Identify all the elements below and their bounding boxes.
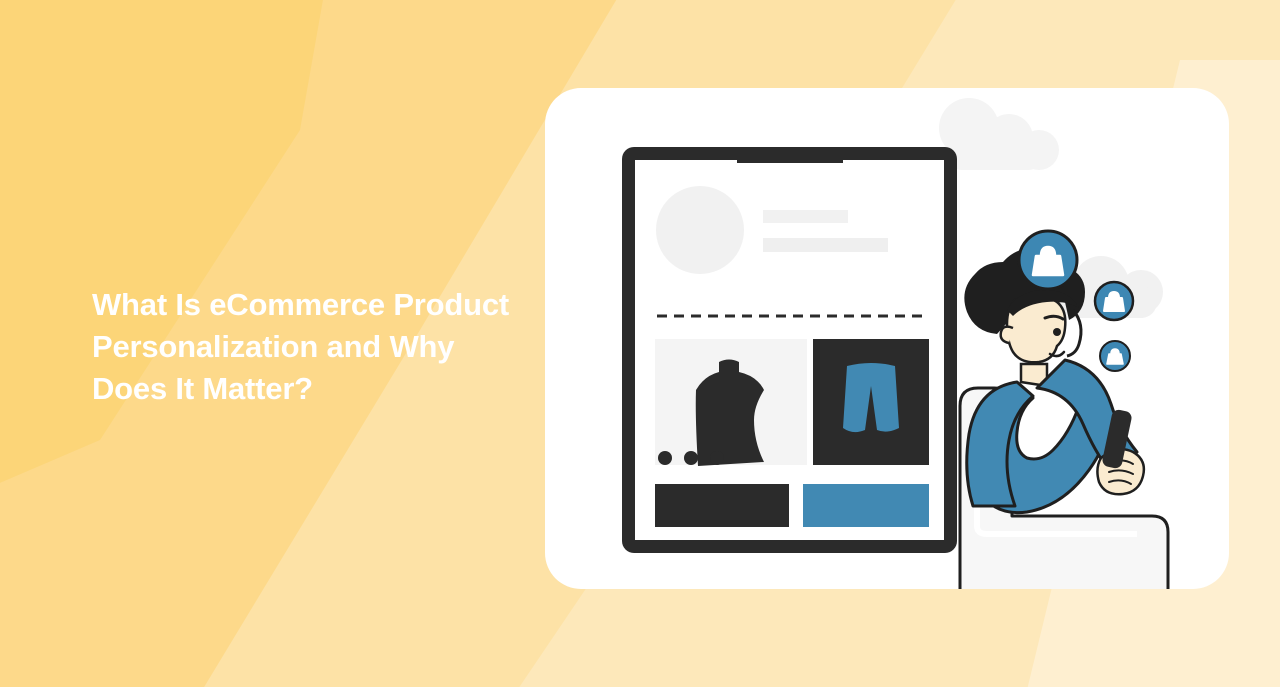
profile-name-bar bbox=[763, 210, 848, 223]
product-tile-tank-top[interactable] bbox=[655, 339, 807, 466]
pagination-dots[interactable] bbox=[658, 451, 724, 465]
illustration-card bbox=[545, 88, 1229, 589]
tablet-secondary-button[interactable] bbox=[803, 484, 929, 527]
tablet-device[interactable] bbox=[622, 147, 957, 553]
profile-subtitle-bar bbox=[763, 238, 888, 252]
product-tile-shorts[interactable] bbox=[813, 339, 929, 465]
tablet-notch bbox=[737, 147, 843, 163]
illustration bbox=[545, 88, 1229, 589]
tablet-primary-button[interactable] bbox=[655, 484, 789, 527]
shopping-bag-bubble-large[interactable] bbox=[1019, 231, 1077, 289]
hero-banner: What Is eCommerce Product Personalizatio… bbox=[0, 0, 1280, 687]
shopping-bag-bubble-medium[interactable] bbox=[1095, 282, 1133, 320]
profile-avatar-placeholder bbox=[656, 186, 744, 274]
eye bbox=[1053, 328, 1061, 336]
page-title: What Is eCommerce Product Personalizatio… bbox=[92, 284, 562, 410]
shopping-bag-bubble-small[interactable] bbox=[1100, 341, 1130, 371]
